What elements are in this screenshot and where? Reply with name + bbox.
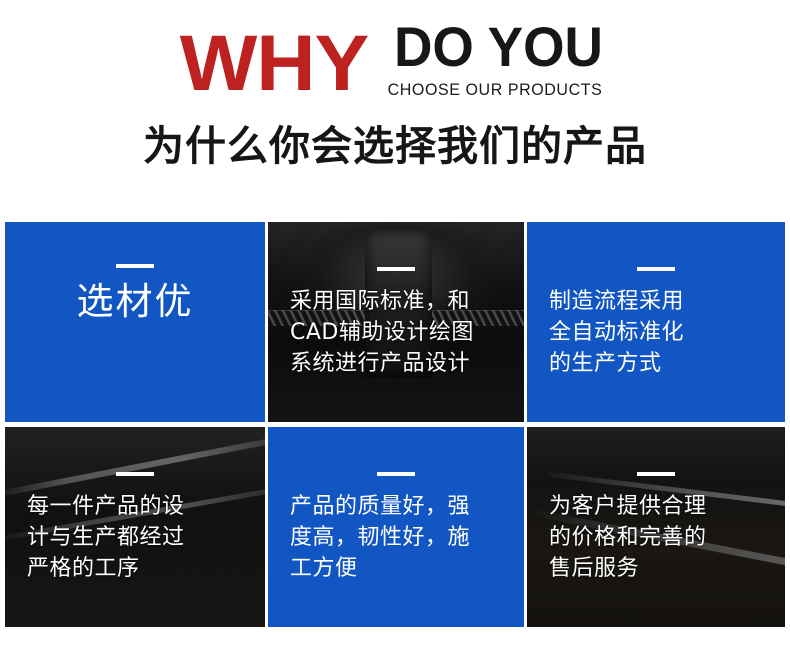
card-content: 产品的质量好，强 度高，韧性好，施 工方便 — [268, 427, 524, 584]
card-text: 采用国际标准，和 CAD辅助设计绘图 系统进行产品设计 — [290, 287, 474, 379]
card-text: 制造流程采用 全自动标准化 的生产方式 — [549, 287, 684, 379]
dash-divider-icon — [637, 472, 675, 476]
page-header: WHY DO YOU CHOOSE OUR PRODUCTS 为什么你会选择我们… — [0, 0, 790, 200]
card-content: 采用国际标准，和 CAD辅助设计绘图 系统进行产品设计 — [268, 222, 524, 379]
feature-card-process: 每一件产品的设 计与生产都经过 严格的工序 — [5, 427, 265, 627]
card-text: 为客户提供合理 的价格和完善的 售后服务 — [549, 492, 707, 584]
headline-choose-our-products: CHOOSE OUR PRODUCTS — [388, 81, 603, 99]
card-text: 选材优 — [77, 280, 194, 324]
dash-divider-icon — [377, 472, 415, 476]
dash-divider-icon — [116, 264, 154, 268]
headline-right-block: DO YOU CHOOSE OUR PRODUCTS — [381, 20, 602, 100]
headline-do-you: DO YOU — [394, 20, 603, 75]
dash-divider-icon — [377, 267, 415, 271]
feature-card-design: 采用国际标准，和 CAD辅助设计绘图 系统进行产品设计 — [268, 222, 524, 422]
feature-card-service: 为客户提供合理 的价格和完善的 售后服务 — [527, 427, 785, 627]
card-text: 产品的质量好，强 度高，韧性好，施 工方便 — [290, 492, 470, 584]
page-title: 为什么你会选择我们的产品 — [0, 124, 790, 170]
feature-card-quality: 产品的质量好，强 度高，韧性好，施 工方便 — [268, 427, 524, 627]
feature-grid: 选材优 采用国际标准，和 CAD辅助设计绘图 系统进行产品设计 制造流程采用 全… — [5, 222, 785, 637]
card-text: 每一件产品的设 计与生产都经过 严格的工序 — [27, 492, 185, 584]
card-content: 每一件产品的设 计与生产都经过 严格的工序 — [5, 427, 265, 584]
dash-divider-icon — [116, 472, 154, 476]
card-content: 选材优 — [5, 222, 265, 324]
feature-card-material: 选材优 — [5, 222, 265, 422]
headline-row: WHY DO YOU CHOOSE OUR PRODUCTS — [0, 18, 790, 100]
feature-card-manufacturing: 制造流程采用 全自动标准化 的生产方式 — [527, 222, 785, 422]
card-content: 为客户提供合理 的价格和完善的 售后服务 — [527, 427, 785, 584]
promo-page: { "header": { "headline_accent": "WHY", … — [0, 0, 790, 665]
card-content: 制造流程采用 全自动标准化 的生产方式 — [527, 222, 785, 379]
dash-divider-icon — [637, 267, 675, 271]
headline-accent-why: WHY — [180, 27, 369, 100]
